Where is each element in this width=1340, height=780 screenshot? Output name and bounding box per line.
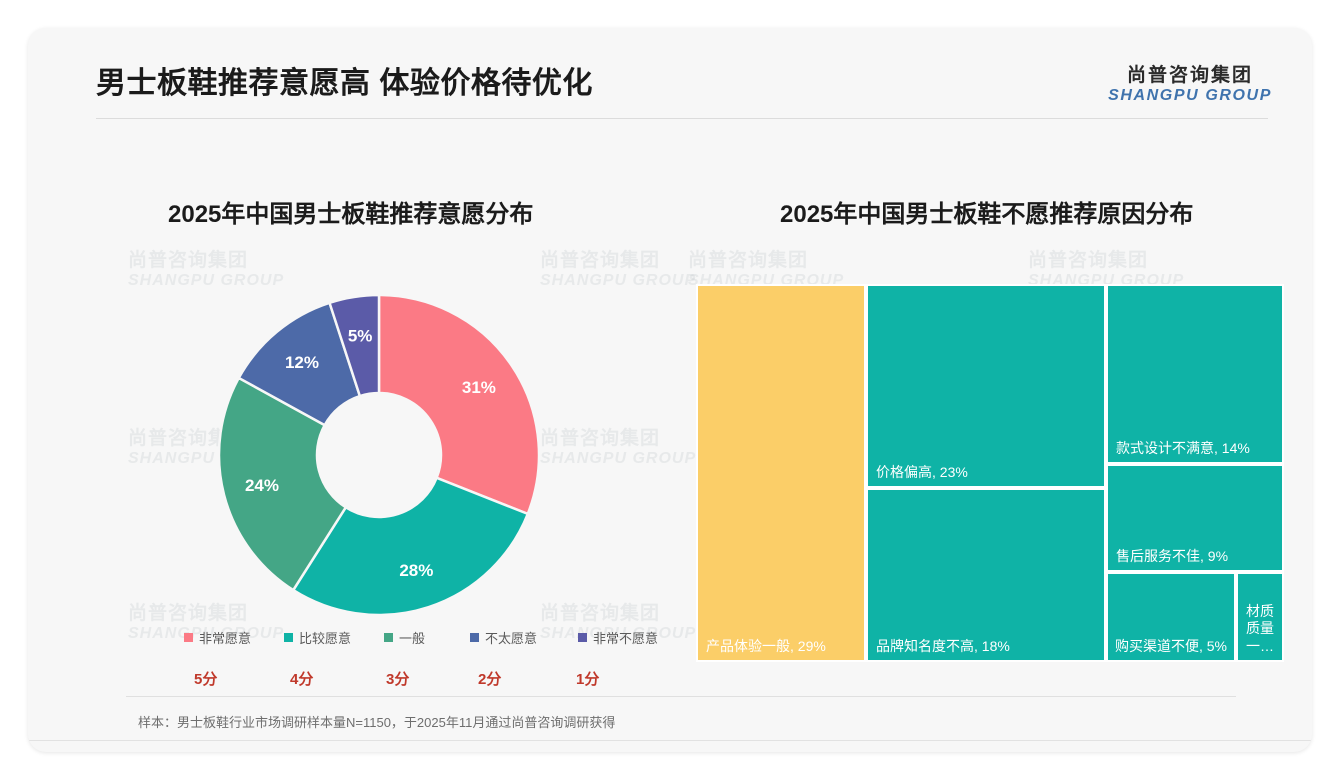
treemap-cell[interactable]: 购买渠道不便, 5% — [1106, 572, 1236, 662]
right-chart-title: 2025年中国男士板鞋不愿推荐原因分布 — [780, 194, 1193, 229]
score-label: 5分 — [194, 668, 217, 689]
footer-copyright: ©2026.1 SHANGPU GROUP — [98, 750, 267, 752]
legend-label: 非常愿意 — [199, 628, 251, 647]
treemap-cell-label: 售后服务不佳, 9% — [1116, 548, 1276, 566]
donut-slice-label: 12% — [285, 353, 319, 372]
legend-label: 不太愿意 — [485, 628, 537, 647]
treemap-cell[interactable]: 价格偏高, 23% — [866, 284, 1106, 488]
treemap-cell-label: 款式设计不满意, 14% — [1116, 440, 1276, 458]
legend-swatch-icon — [470, 633, 479, 642]
score-label: 2分 — [478, 668, 501, 689]
treemap-cell-label: 价格偏高, 23% — [876, 464, 1098, 482]
slide-header: 男士板鞋推荐意愿高 体验价格待优化 尚普咨询集团 SHANGPU GROUP — [28, 28, 1312, 120]
donut-chart: 31%28%24%12%5% — [204, 280, 554, 630]
treemap-cell[interactable]: 品牌知名度不高, 18% — [866, 488, 1106, 662]
treemap-cell-label: 品牌知名度不高, 18% — [876, 638, 1098, 656]
source-divider — [126, 696, 1236, 697]
donut-slice-label: 5% — [348, 327, 373, 346]
score-label: 1分 — [576, 668, 599, 689]
watermark: 尚普咨询集团 SHANGPU GROUP — [540, 250, 696, 290]
slide-card: 男士板鞋推荐意愿高 体验价格待优化 尚普咨询集团 SHANGPU GROUP 尚… — [28, 28, 1312, 752]
legend-item[interactable]: 不太愿意 — [470, 628, 537, 647]
legend-swatch-icon — [284, 633, 293, 642]
watermark: 尚普咨询集团 SHANGPU GROUP — [540, 428, 696, 468]
header-divider — [96, 118, 1268, 119]
slide-page: 男士板鞋推荐意愿高 体验价格待优化 尚普咨询集团 SHANGPU GROUP 尚… — [0, 0, 1340, 780]
treemap-cell-label: 材质质量一… — [1242, 603, 1278, 656]
legend-swatch-icon — [184, 633, 193, 642]
treemap-cell-label: 购买渠道不便, 5% — [1112, 638, 1230, 656]
donut-legend: 非常愿意比较愿意一般不太愿意非常不愿意 — [178, 628, 678, 650]
donut-slice-label: 28% — [399, 561, 433, 580]
logo-chinese-text: 尚普咨询集团 — [1108, 66, 1272, 86]
legend-label: 非常不愿意 — [593, 628, 658, 647]
score-row: 5分4分3分2分1分 — [178, 668, 678, 692]
treemap-chart: 产品体验一般, 29%价格偏高, 23%品牌知名度不高, 18%款式设计不满意,… — [696, 284, 1284, 662]
source-note: 样本：男士板鞋行业市场调研样本量N=1150，于2025年11月通过尚普咨询调研… — [138, 712, 615, 731]
treemap-cell[interactable]: 款式设计不满意, 14% — [1106, 284, 1284, 464]
legend-item[interactable]: 一般 — [384, 628, 425, 647]
treemap-cell[interactable]: 售后服务不佳, 9% — [1106, 464, 1284, 572]
legend-item[interactable]: 比较愿意 — [284, 628, 351, 647]
score-label: 3分 — [386, 668, 409, 689]
donut-slice-label: 31% — [462, 378, 496, 397]
score-label: 4分 — [290, 668, 313, 689]
footer-website: www.shangpu-china.com — [1107, 750, 1252, 752]
legend-item[interactable]: 非常不愿意 — [578, 628, 658, 647]
legend-swatch-icon — [578, 633, 587, 642]
brand-logo: 尚普咨询集团 SHANGPU GROUP — [1108, 66, 1272, 105]
legend-item[interactable]: 非常愿意 — [184, 628, 251, 647]
legend-label: 比较愿意 — [299, 628, 351, 647]
footer-divider — [28, 740, 1312, 741]
legend-swatch-icon — [384, 633, 393, 642]
left-chart-title: 2025年中国男士板鞋推荐意愿分布 — [168, 194, 533, 229]
page-title: 男士板鞋推荐意愿高 体验价格待优化 — [96, 58, 593, 102]
legend-label: 一般 — [399, 628, 425, 647]
logo-english-text: SHANGPU GROUP — [1108, 88, 1272, 105]
treemap-cell[interactable]: 材质质量一… — [1236, 572, 1284, 662]
treemap-cell[interactable]: 产品体验一般, 29% — [696, 284, 866, 662]
donut-slice[interactable] — [379, 295, 539, 514]
donut-slice-label: 24% — [245, 476, 279, 495]
treemap-cell-label: 产品体验一般, 29% — [706, 638, 858, 656]
donut-chart-svg: 31%28%24%12%5% — [204, 280, 554, 630]
